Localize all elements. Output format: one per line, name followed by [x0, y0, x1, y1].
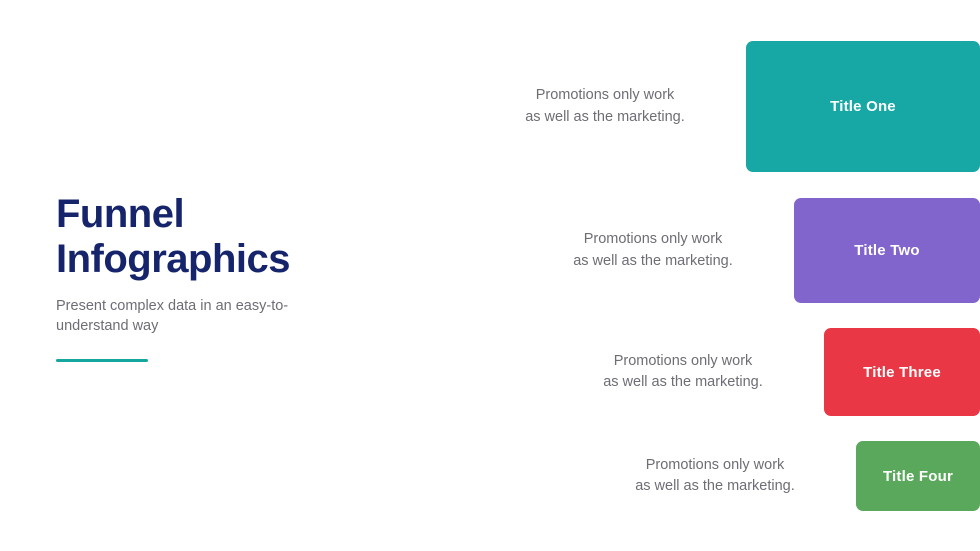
funnel-row-label: Title Three: [863, 364, 941, 381]
funnel-row[interactable]: Promotions only work as well as the mark…: [400, 41, 980, 172]
funnel-row[interactable]: Promotions only work as well as the mark…: [400, 328, 980, 416]
funnel-row-label: Title One: [830, 98, 896, 115]
accent-divider: [56, 359, 148, 362]
funnel-row[interactable]: Promotions only work as well as the mark…: [400, 198, 980, 303]
funnel-row-label: Title Two: [854, 242, 919, 259]
title-block: Funnel Infographics Present complex data…: [56, 192, 356, 362]
funnel-row-box[interactable]: Title Two: [794, 198, 980, 303]
funnel-row-description: Promotions only work as well as the mark…: [600, 455, 856, 497]
funnel-row-description: Promotions only work as well as the mark…: [568, 351, 824, 393]
page-subtitle: Present complex data in an easy-to-under…: [56, 296, 302, 337]
funnel-row[interactable]: Promotions only work as well as the mark…: [400, 441, 980, 511]
funnel-row-box[interactable]: Title One: [746, 41, 980, 172]
slide-canvas: Funnel Infographics Present complex data…: [0, 0, 980, 551]
funnel-row-box[interactable]: Title Three: [824, 328, 980, 416]
funnel-row-description: Promotions only work as well as the mark…: [538, 229, 794, 271]
page-title: Funnel Infographics: [56, 192, 356, 282]
funnel-row-box[interactable]: Title Four: [856, 441, 980, 511]
funnel-diagram: Promotions only work as well as the mark…: [400, 0, 980, 551]
funnel-row-label: Title Four: [883, 468, 953, 485]
funnel-row-description: Promotions only work as well as the mark…: [490, 85, 746, 127]
